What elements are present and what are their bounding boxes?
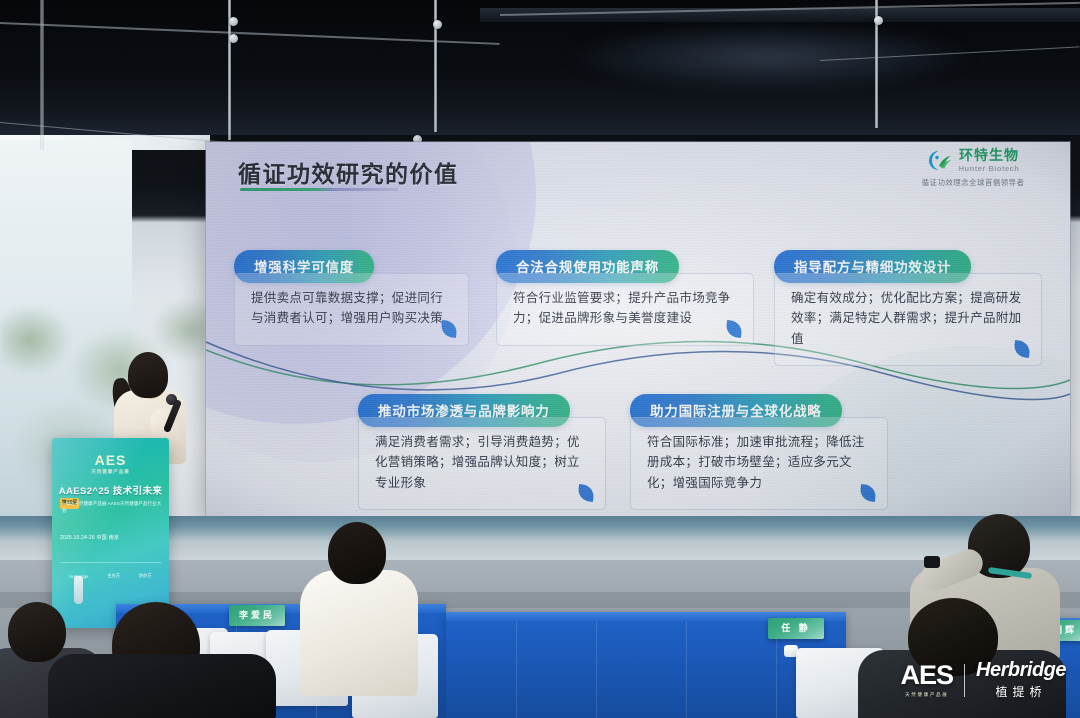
watermark-herbridge-logo: Herbridge 植提桥 xyxy=(976,660,1066,700)
podium-logo-subtext: 天然健康产品展 xyxy=(52,469,169,475)
podium-headline: AAES2^25 技术引未来 xyxy=(52,483,169,497)
watermark-aes-text: AES xyxy=(901,662,954,689)
audience-torso xyxy=(48,654,276,718)
podium-logo-text: AES xyxy=(95,452,127,468)
hunter-biotech-logo-icon xyxy=(927,149,954,172)
audience-torso xyxy=(300,570,418,696)
audience-member-5 xyxy=(858,598,1068,718)
ceiling-beam xyxy=(480,8,1080,22)
curtain-wall-mullion xyxy=(40,0,44,150)
watermark-divider xyxy=(964,664,965,697)
leaf-accent-icon xyxy=(440,319,458,337)
table-skirt-fold xyxy=(686,621,687,718)
brand-name-cn: 环特生物 xyxy=(959,148,1020,163)
ceiling-light-glow xyxy=(560,22,980,92)
audience-head xyxy=(328,522,386,584)
value-card-2-body-box: 符合行业监管要求；提升产品市场竞争力；促进品牌形象与美誉度建设 xyxy=(496,273,754,346)
value-card-3-body-box: 确定有效成分；优化配比方案；提高研发效率；满足特定人群需求；提升产品附加值 xyxy=(774,273,1042,366)
value-card-1-body-box: 提供卖点可靠数据支撑；促进同行与消费者认可；增强用户购买决策 xyxy=(234,273,469,346)
leaf-accent-icon xyxy=(1013,340,1031,358)
value-card-2[interactable]: 合法合规使用功能声称 符合行业监管要求；提升产品市场竞争力；促进品牌形象与美誉度… xyxy=(496,250,754,346)
value-card-4-body-box: 满足消费者需求；引导消费趋势；优化营销策略；增强品牌认知度；树立专业形象 xyxy=(358,417,606,510)
slide-title: 循证功效研究的价值 xyxy=(238,155,459,189)
presentation-screen[interactable]: 循证功效研究的价值 环特生物 Hunter Biotech 循证功效 xyxy=(206,142,1070,516)
brand-lockup: 环特生物 Hunter Biotech 循证功效理念全球首倡领导者 xyxy=(890,148,1056,188)
watermark-aes-subtext: 天然健康产品展 xyxy=(905,692,948,698)
value-card-1[interactable]: 增强科学可信度 提供卖点可靠数据支撑；促进同行与消费者认可；增强用户购买决策 xyxy=(234,250,469,346)
value-card-3[interactable]: 指导配方与精细功效设计 确定有效成分；优化配比方案；提高研发效率；满足特定人群需… xyxy=(774,250,1042,366)
glass-spider-fitting xyxy=(229,34,238,43)
glass-spider-fitting xyxy=(229,17,238,26)
podium-sponsor-1: 主办方 xyxy=(107,573,120,579)
title-underline-rule xyxy=(240,188,398,191)
value-card-4[interactable]: 推动市场渗透与品牌影响力 满足消费者需求；引导消费趋势；优化营销策略；增强品牌认… xyxy=(358,394,606,510)
leaf-accent-icon xyxy=(859,484,877,502)
audience-member-6 xyxy=(48,636,278,718)
watermark-aes-logo: AES 天然健康产品展 xyxy=(901,662,954,698)
podium-meta: 2025.10.24-26 中国·南京 xyxy=(60,534,163,541)
value-card-5-body: 符合国际标准；加速审批流程；降低注册成本；打破市场壁垒；适应多元文化；增强国际竞… xyxy=(647,432,871,493)
value-card-4-body: 满足消费者需求；引导消费趋势；优化营销策略；增强品牌认知度；树立专业形象 xyxy=(375,432,589,493)
glass-spider-fitting xyxy=(433,20,442,29)
table-skirt-fold xyxy=(516,621,517,718)
table-skirt-fold xyxy=(596,621,597,718)
audience-member-3 xyxy=(300,520,420,695)
value-card-2-body: 符合行业监管要求；提升产品市场竞争力；促进品牌形象与美誉度建设 xyxy=(513,288,737,329)
nametag-2: 任 静 xyxy=(768,618,824,639)
screenshot-root: 循证功效研究的价值 环特生物 Hunter Biotech 循证功效 xyxy=(0,0,1080,718)
podium-sponsor-2: 协办方 xyxy=(139,573,152,579)
value-card-1-body: 提供卖点可靠数据支撑；促进同行与消费者认可；增强用户购买决策 xyxy=(251,288,452,329)
podium-subline: AAES天然健康产品展 AAES天然健康产品行业大会 xyxy=(62,501,163,514)
value-card-5[interactable]: 助力国际注册与全球化战略 符合国际标准；加速审批流程；降低注册成本；打破市场壁垒… xyxy=(630,394,888,510)
value-card-5-body-box: 符合国际标准；加速审批流程；降低注册成本；打破市场壁垒；适应多元文化；增强国际竞… xyxy=(630,417,888,510)
leaf-accent-icon xyxy=(577,484,595,502)
presenter-hair xyxy=(128,352,168,398)
wristwatch xyxy=(924,556,940,568)
watermark-herbridge-cn: 植提桥 xyxy=(996,683,1047,700)
brand-name-en: Hunter Biotech xyxy=(959,164,1020,173)
value-card-3-body: 确定有效成分；优化配比方案；提高研发效率；满足特定人群需求；提升产品附加值 xyxy=(791,288,1025,349)
microphone-head-icon xyxy=(166,394,177,405)
podium-aes-logo: AES 天然健康产品展 xyxy=(52,452,169,475)
corner-watermark: AES 天然健康产品展 Herbridge 植提桥 xyxy=(901,660,1067,700)
watermark-herbridge-en: Herbridge xyxy=(976,660,1066,680)
glass-spider-fitting xyxy=(874,16,883,25)
leaf-accent-icon xyxy=(725,319,743,337)
brand-tagline: 循证功效理念全球首倡领导者 xyxy=(890,177,1056,188)
